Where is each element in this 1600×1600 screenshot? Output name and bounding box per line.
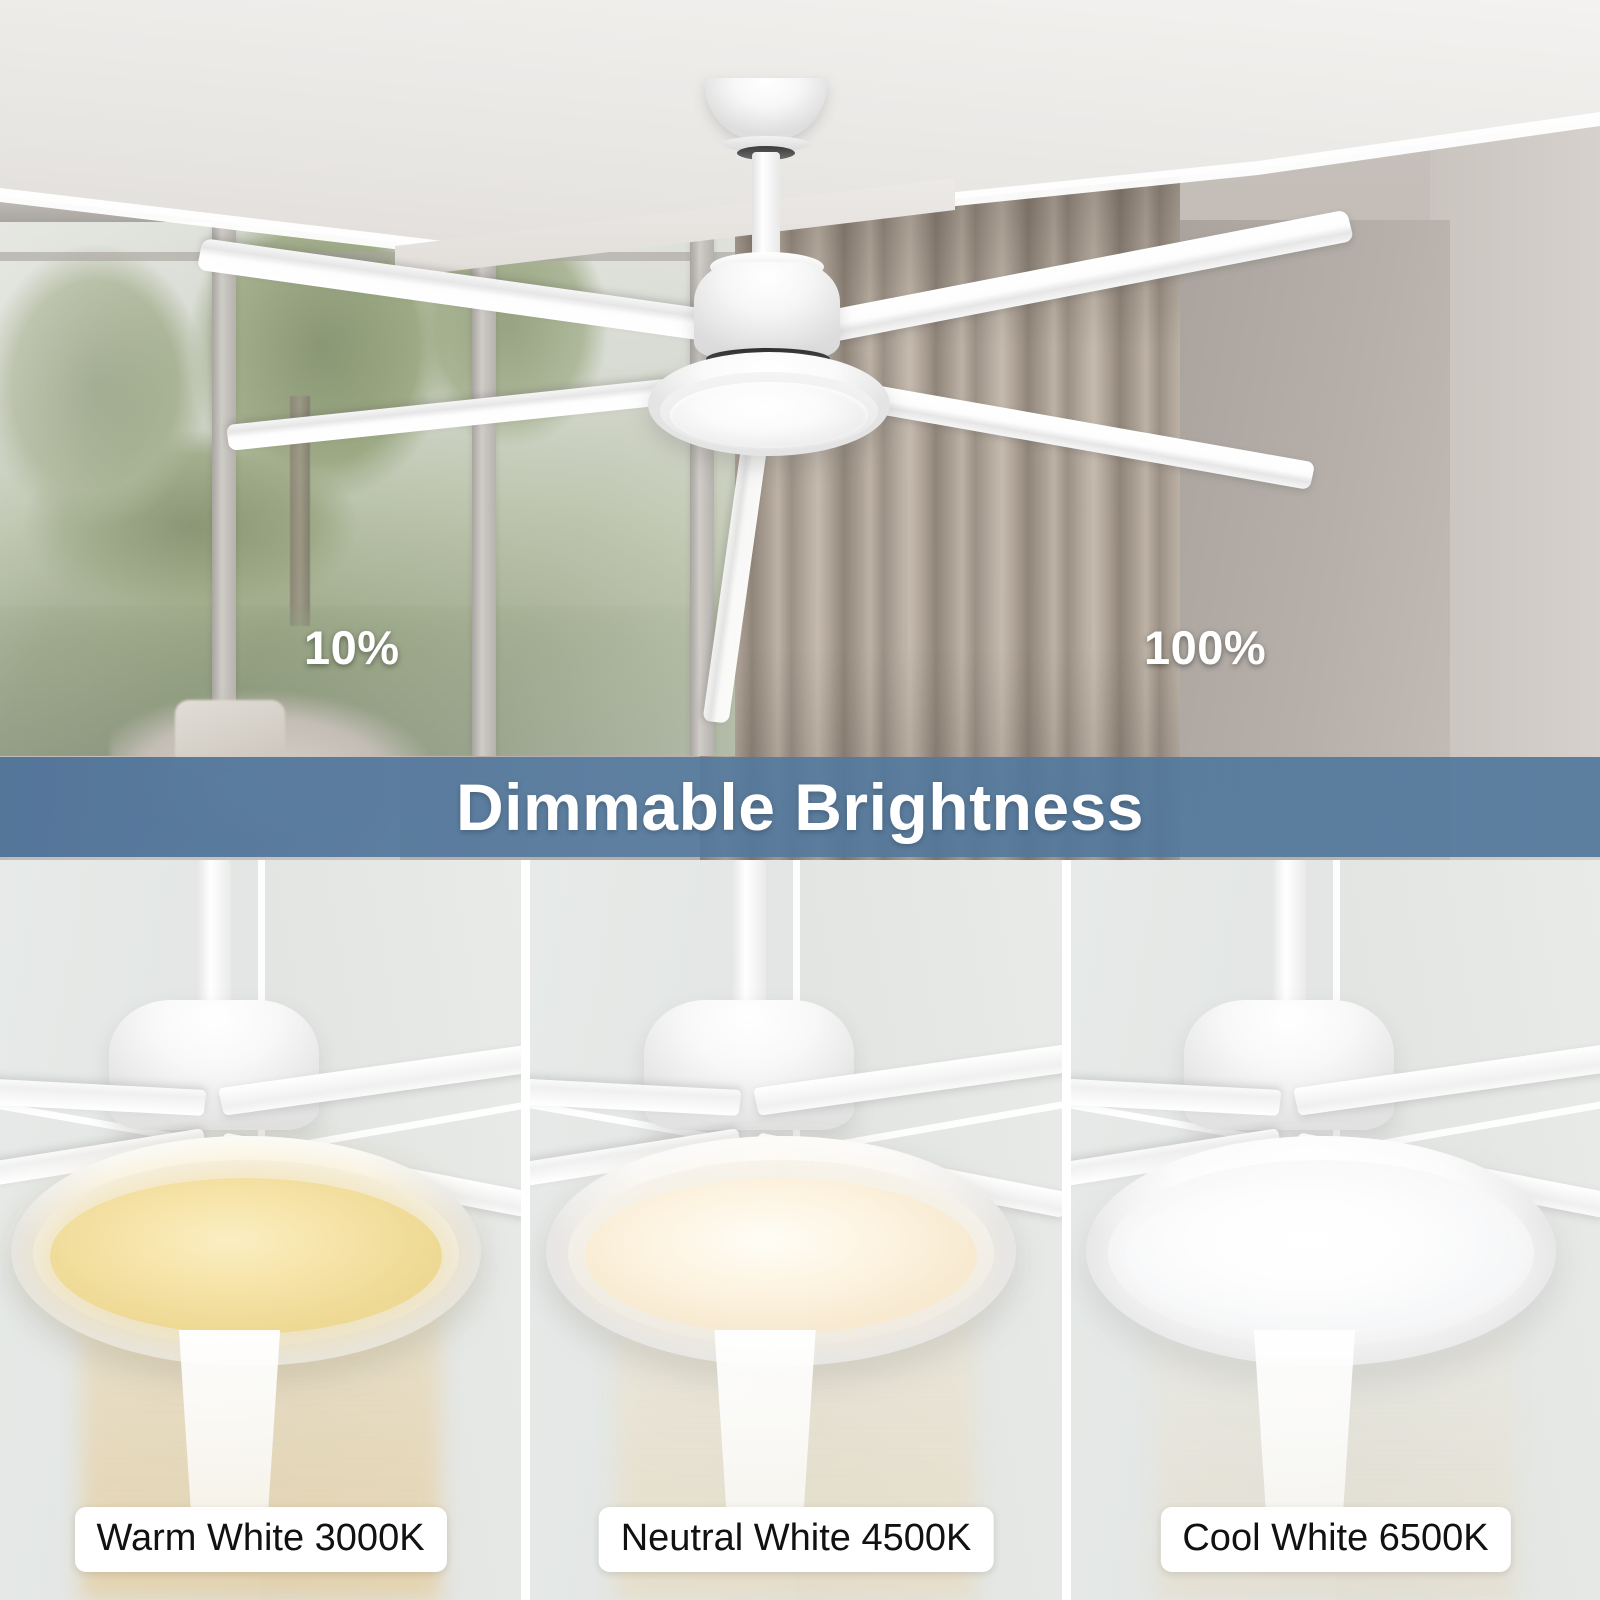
color-temperature-strip: Warm White 3000K Neutral White 4500K	[0, 860, 1600, 1600]
banner-title: Dimmable Brightness	[456, 769, 1144, 845]
color-mode-panel-neutral[interactable]: Neutral White 4500K	[521, 860, 1062, 1600]
fan-downrod	[1272, 860, 1306, 1010]
light-beam	[1250, 1330, 1360, 1530]
light-beam	[710, 1330, 820, 1530]
fan-motor-housing	[694, 262, 840, 358]
fan-blade	[197, 238, 773, 350]
hero-room-scene: 10% 100% Dimmable Brightness	[0, 0, 1600, 860]
light-beam	[175, 1330, 285, 1530]
color-mode-label-neutral: Neutral White 4500K	[599, 1507, 994, 1572]
light-diffuser-neutral	[585, 1178, 977, 1334]
brightness-slider[interactable]	[0, 556, 1600, 620]
color-mode-panel-cool[interactable]: Cool White 6500K	[1062, 860, 1600, 1600]
light-diffuser-cool	[1125, 1178, 1517, 1334]
fan-canopy	[705, 78, 827, 142]
color-mode-label-cool: Cool White 6500K	[1160, 1507, 1510, 1572]
fan-downrod	[732, 860, 766, 1010]
light-diffuser	[670, 382, 868, 448]
brightness-max-label: 100%	[1144, 620, 1266, 675]
brightness-min-label: 10%	[304, 620, 400, 675]
fan-downrod	[197, 860, 231, 1010]
fan-blade	[786, 210, 1354, 350]
feature-banner: Dimmable Brightness	[0, 757, 1600, 857]
color-mode-panel-warm[interactable]: Warm White 3000K	[0, 860, 521, 1600]
light-diffuser-warm	[50, 1178, 442, 1334]
product-feature-image: 10% 100% Dimmable Brightness Warm	[0, 0, 1600, 1600]
color-mode-label-warm: Warm White 3000K	[75, 1507, 447, 1572]
ceiling-fan	[0, 0, 1600, 860]
